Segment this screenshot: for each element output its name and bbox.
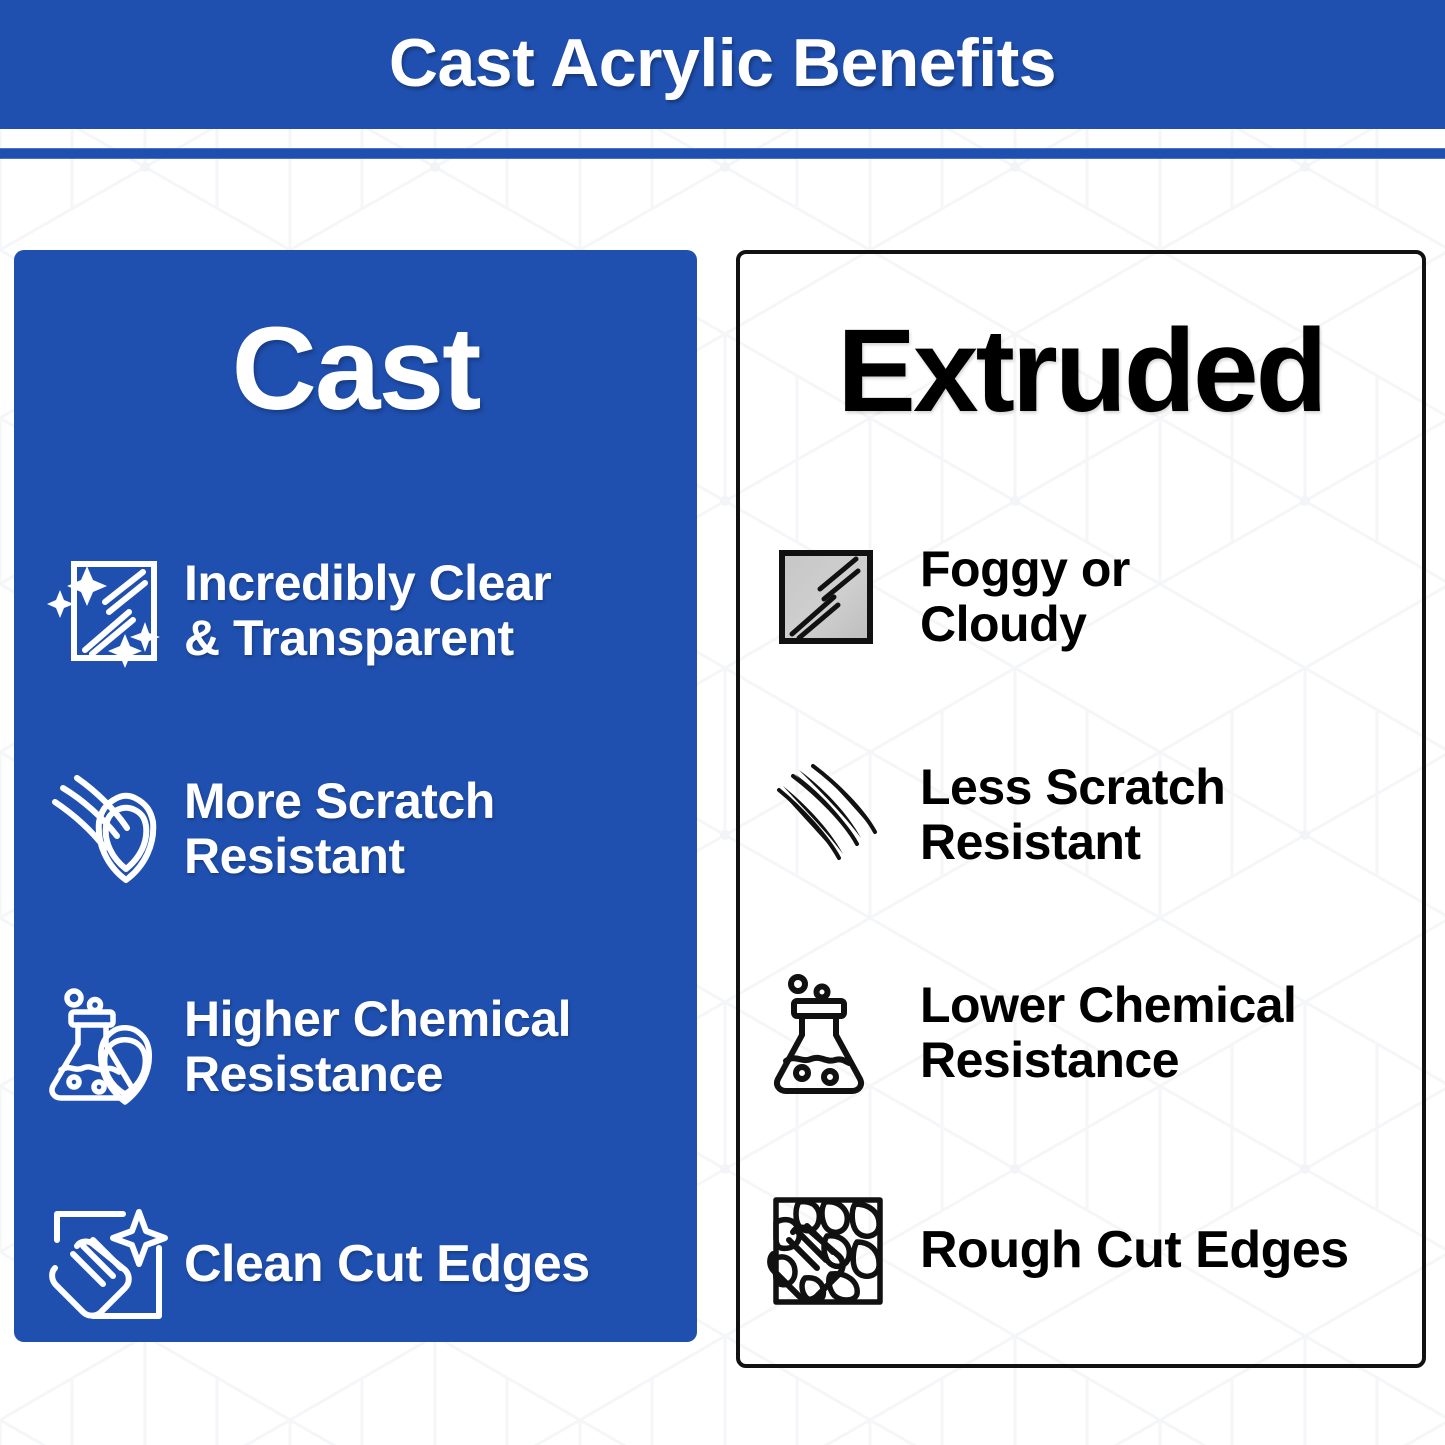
panel-cast-feature-list: Incredibly Clear & Transparent [14,502,697,1374]
feature-row: Higher Chemical Resistance [14,938,697,1156]
panel-extruded-heading: Extruded [740,312,1422,430]
feature-row: More Scratch Resistant [14,720,697,938]
scratch-marks-icon [764,751,892,879]
feature-row: Lower Chemical Resistance [740,924,1422,1142]
feature-row: Incredibly Clear & Transparent [14,502,697,720]
feature-label: More Scratch Resistant [184,774,495,884]
shield-scratch-icon [44,765,172,893]
foggy-glass-icon [764,533,892,661]
clean-cut-edge-icon [44,1201,172,1329]
feature-label: Less Scratch Resistant [920,760,1225,870]
panel-extruded: Extruded [736,250,1426,1368]
feature-label: Clean Cut Edges [184,1236,590,1293]
panel-cast-heading: Cast [14,310,697,428]
feature-row: Clean Cut Edges [14,1156,697,1374]
comparison-panels: Cast [0,0,1445,1445]
feature-label: Rough Cut Edges [920,1222,1349,1279]
feature-label: Foggy or Cloudy [920,542,1130,652]
rough-cut-edge-icon [764,1187,892,1315]
feature-label: Incredibly Clear & Transparent [184,556,551,666]
panel-cast: Cast [14,250,697,1342]
panel-extruded-feature-list: Foggy or Cloudy [740,488,1422,1360]
clear-glass-sparkle-icon [44,547,172,675]
feature-row: Foggy or Cloudy [740,488,1422,706]
flask-icon [764,969,892,1097]
flask-shield-icon [44,983,172,1111]
feature-row: Rough Cut Edges [740,1142,1422,1360]
feature-row: Less Scratch Resistant [740,706,1422,924]
feature-label: Higher Chemical Resistance [184,992,571,1102]
feature-label: Lower Chemical Resistance [920,978,1296,1088]
